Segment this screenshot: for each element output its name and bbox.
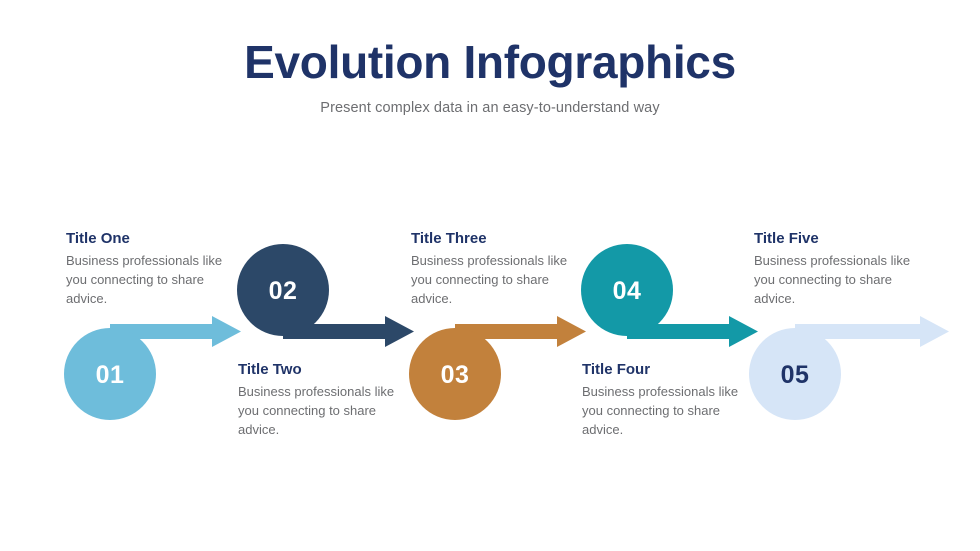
step-description-3: Business professionals like you connecti… — [411, 252, 579, 309]
step-title-4: Title Four — [582, 361, 750, 378]
step-text-block-4: Title Four Business professionals like y… — [582, 361, 750, 440]
step-description-5: Business professionals like you connecti… — [754, 252, 922, 309]
step-text-block-2: Title Two Business professionals like yo… — [238, 361, 406, 440]
step-number-3: 03 — [409, 361, 501, 390]
step-number-2: 02 — [237, 277, 329, 306]
step-text-block-3: Title Three Business professionals like … — [411, 230, 579, 309]
step-title-5: Title Five — [754, 230, 922, 247]
step-number-5: 05 — [749, 361, 841, 390]
step-description-1: Business professionals like you connecti… — [66, 252, 234, 309]
step-text-block-1: Title One Business professionals like yo… — [66, 230, 234, 309]
step-description-4: Business professionals like you connecti… — [582, 383, 750, 440]
step-title-3: Title Three — [411, 230, 579, 247]
step-number-1: 01 — [64, 361, 156, 390]
step-title-2: Title Two — [238, 361, 406, 378]
step-text-block-5: Title Five Business professionals like y… — [754, 230, 922, 309]
step-number-4: 04 — [581, 277, 673, 306]
infographic-slide: Evolution Infographics Present complex d… — [0, 0, 980, 551]
step-description-2: Business professionals like you connecti… — [238, 383, 406, 440]
step-title-1: Title One — [66, 230, 234, 247]
